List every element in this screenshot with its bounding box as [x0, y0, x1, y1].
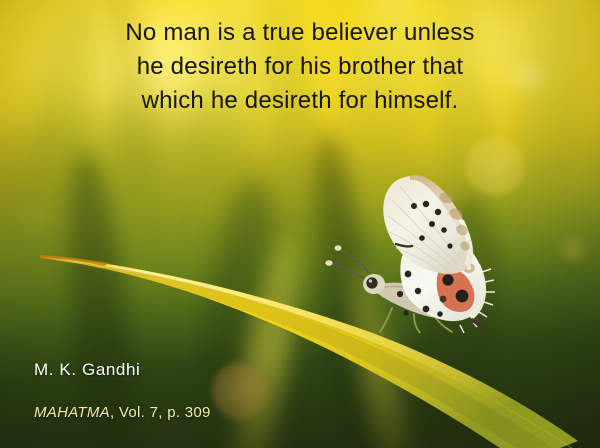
source-volume-page: , Vol. 7, p. 309	[110, 404, 211, 421]
quote-line-1: No man is a true believer unless	[0, 16, 600, 50]
quote-text: No man is a true believer unless he desi…	[0, 16, 600, 118]
quote-line-3: which he desireth for himself.	[0, 84, 600, 118]
quote-image: No man is a true believer unless he desi…	[0, 0, 600, 448]
quote-line-2: he desireth for his brother that	[0, 50, 600, 84]
author-name: M. K. Gandhi	[34, 360, 140, 380]
source-citation: MAHATMA, Vol. 7, p. 309	[34, 404, 211, 421]
source-book-title: MAHATMA	[34, 404, 110, 421]
